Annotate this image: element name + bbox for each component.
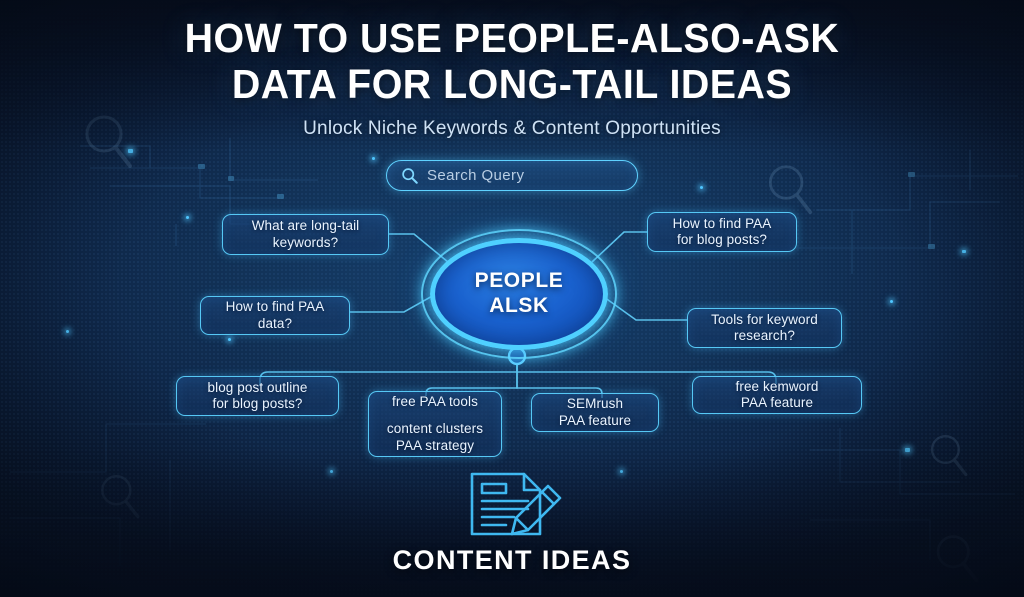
background-spark	[620, 470, 623, 473]
central-node-label-line-2: ALSK	[475, 294, 564, 319]
footer-label: CONTENT IDEAS	[0, 545, 1024, 576]
infographic-canvas: HOW TO USE PEOPLE-ALSO-ASK DATA FOR LONG…	[0, 0, 1024, 597]
background-spark	[186, 216, 189, 219]
magnifier-ghost-icon-5	[95, 470, 141, 522]
node-box-tools-for-keyword-research[interactable]: Tools for keyword research?	[687, 308, 842, 348]
node-line: PAA feature	[541, 413, 649, 429]
search-placeholder-text: Search Query	[427, 167, 524, 184]
node-line: Tools for keyword	[697, 312, 832, 328]
node-box-free-paa-tools-content-clusters[interactable]: free PAA tools content clusters PAA stra…	[368, 391, 502, 457]
background-spark	[66, 330, 69, 333]
background-spark	[962, 250, 966, 253]
page-subtitle: Unlock Niche Keywords & Content Opportun…	[0, 118, 1024, 140]
page-title-line-2: DATA FOR LONG-TAIL IDEAS	[20, 64, 1003, 106]
node-box-what-are-long-tail-keywords[interactable]: What are long-tail keywords?	[222, 214, 389, 255]
document-pencil-icon	[462, 468, 570, 540]
background-spark	[700, 186, 703, 189]
node-box-free-keyword-paa-feature[interactable]: free kemword PAA feature	[692, 376, 862, 414]
node-line: keywords?	[232, 235, 379, 251]
node-line: blog post outline	[186, 380, 329, 396]
search-input[interactable]: Search Query	[386, 160, 638, 191]
node-line: for blog posts?	[657, 232, 787, 248]
node-line: SEMrush	[541, 396, 649, 412]
node-line: PAA feature	[702, 395, 852, 411]
magnifier-ghost-icon-3	[925, 430, 969, 480]
background-spark	[128, 149, 133, 153]
node-line: How to find PAA	[657, 216, 787, 232]
node-line: free PAA tools	[378, 394, 492, 410]
node-line: for blog posts?	[186, 396, 329, 412]
central-node-label-line-1: PEOPLE	[475, 269, 564, 294]
node-box-blog-post-outline[interactable]: blog post outline for blog posts?	[176, 376, 339, 416]
node-box-how-to-find-paa-for-blog-posts[interactable]: How to find PAA for blog posts?	[647, 212, 797, 252]
background-spark	[330, 470, 333, 473]
central-node[interactable]: PEOPLE ALSK	[430, 238, 608, 350]
node-box-semrush-paa-feature[interactable]: SEMrush PAA feature	[531, 393, 659, 432]
magnifier-ghost-icon-2	[762, 160, 814, 218]
background-spark	[890, 300, 893, 303]
node-line: research?	[697, 328, 832, 344]
node-line: How to find PAA	[210, 299, 340, 315]
background-spark	[905, 448, 910, 452]
central-node-label: PEOPLE ALSK	[475, 269, 564, 319]
node-box-how-to-find-paa-data[interactable]: How to find PAA data?	[200, 296, 350, 335]
page-title-line-1: HOW TO USE PEOPLE-ALSO-ASK	[20, 18, 1003, 60]
node-line: free kemword	[702, 379, 852, 395]
node-line: content clusters	[378, 421, 492, 437]
background-spark	[228, 338, 231, 341]
node-line: PAA strategy	[378, 438, 492, 454]
circuit-trace-right	[790, 150, 1020, 280]
background-spark	[372, 157, 375, 160]
node-line: data?	[210, 316, 340, 332]
header: HOW TO USE PEOPLE-ALSO-ASK DATA FOR LONG…	[0, 18, 1024, 140]
node-line: What are long-tail	[232, 218, 379, 234]
search-icon	[401, 167, 418, 184]
